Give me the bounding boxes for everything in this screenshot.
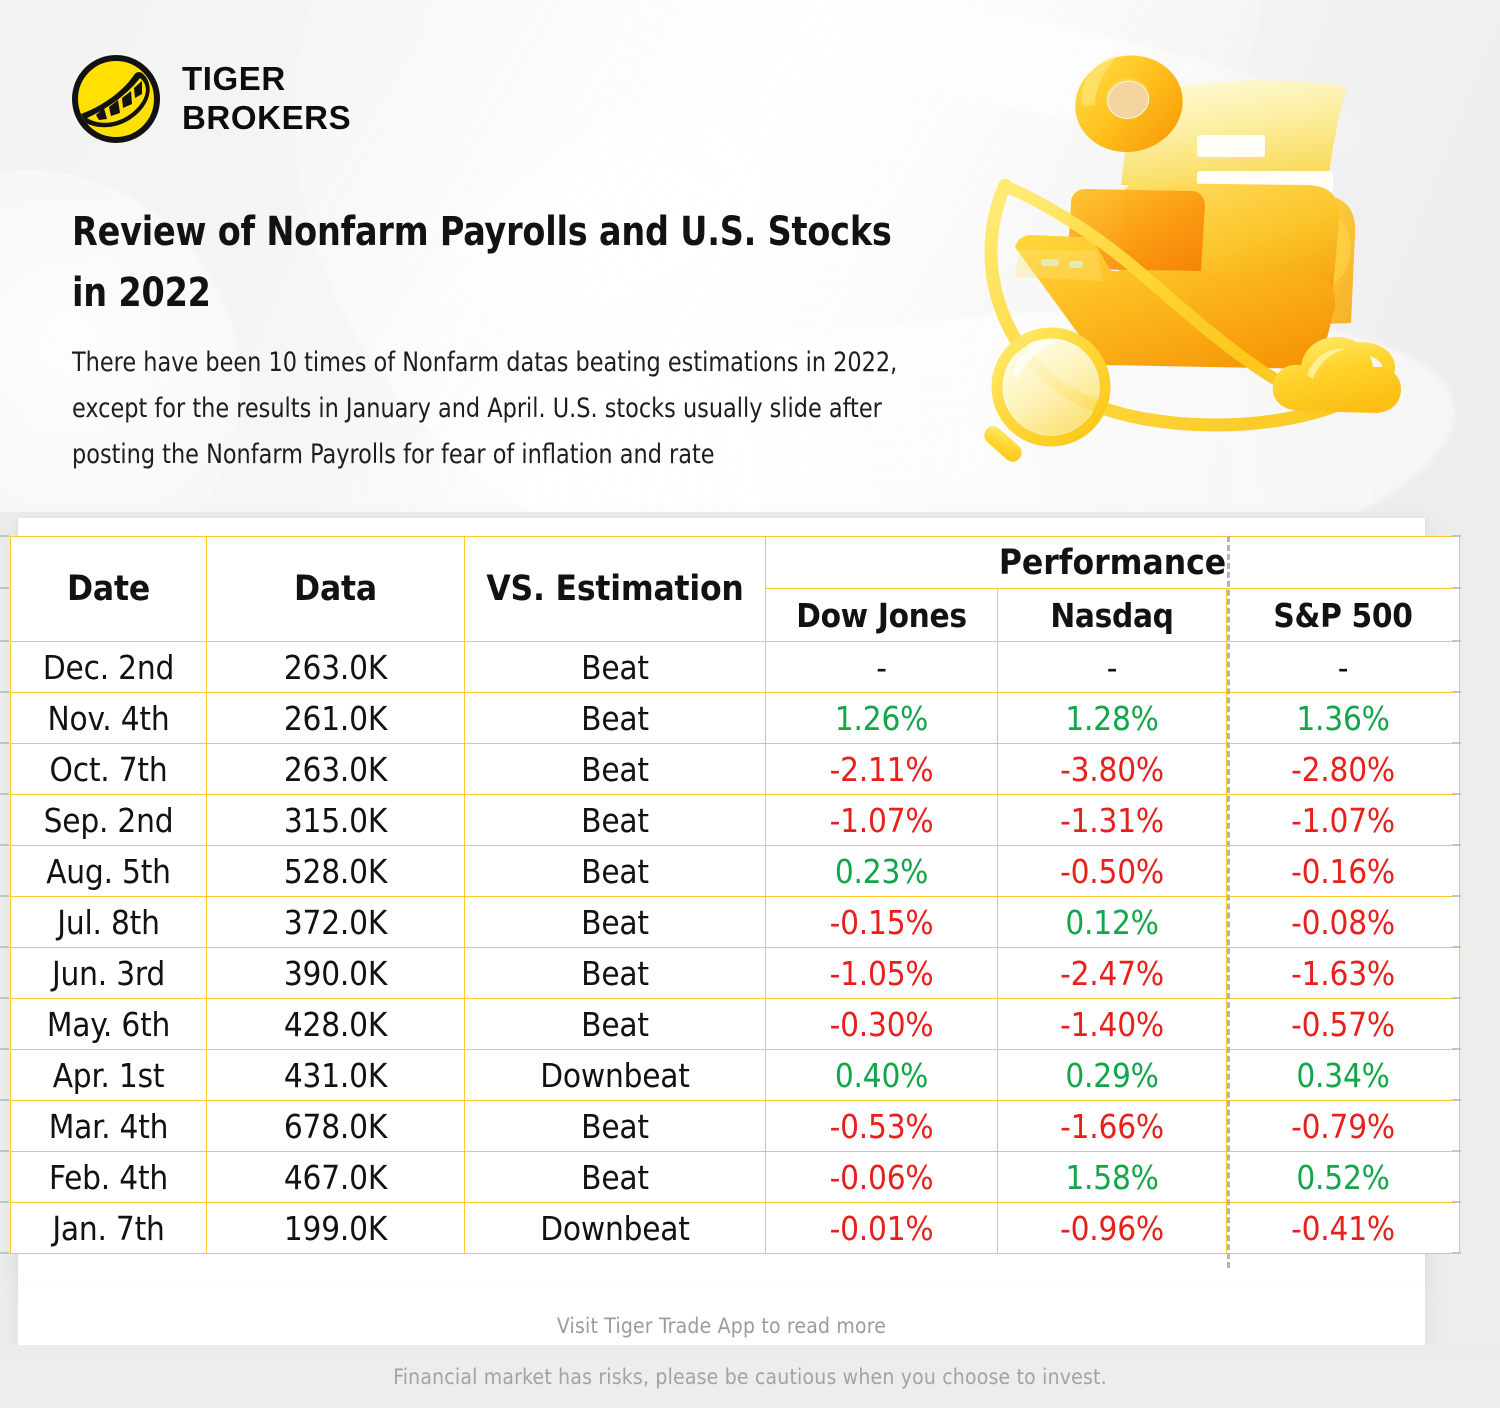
cell-sp500: -1.63% [1227, 948, 1460, 999]
cell-nasdaq: 0.29% [998, 1050, 1227, 1101]
cell-data: 261.0K [207, 693, 465, 744]
cell-data: 390.0K [207, 948, 465, 999]
cell-data: 263.0K [207, 744, 465, 795]
row-resize-handle[interactable] [0, 1099, 9, 1101]
brand-logo: TIGER BROKERS [72, 55, 351, 143]
cell-date: Jan. 7th [11, 1203, 207, 1254]
column-header-sp500[interactable]: S&P 500 [1227, 589, 1460, 642]
row-resize-handle[interactable] [0, 535, 9, 537]
cell-estimation: Beat [465, 999, 766, 1050]
table-body: Dec. 2nd263.0KBeat---Nov. 4th261.0KBeat1… [11, 642, 1460, 1254]
row-resize-handle[interactable] [1452, 691, 1461, 693]
cell-sp500: 0.34% [1227, 1050, 1460, 1101]
cell-nasdaq: -1.31% [998, 795, 1227, 846]
cell-estimation: Beat [465, 897, 766, 948]
cell-sp500: -2.80% [1227, 744, 1460, 795]
table-row[interactable]: Jan. 7th199.0KDownbeat-0.01%-0.96%-0.41% [11, 1203, 1460, 1254]
column-header-vs-estimation[interactable]: VS. Estimation [465, 537, 766, 642]
cell-data: 263.0K [207, 642, 465, 693]
cell-sp500: 1.36% [1227, 693, 1460, 744]
brand-name-line-2: BROKERS [182, 99, 351, 138]
cell-dow-jones: 0.40% [766, 1050, 998, 1101]
column-header-date[interactable]: Date [11, 537, 207, 642]
row-resize-handle[interactable] [1452, 793, 1461, 795]
cell-date: Feb. 4th [11, 1152, 207, 1203]
nonfarm-payrolls-table: Date Data VS. Estimation Performance Dow… [10, 536, 1460, 1254]
row-resize-handle[interactable] [0, 587, 9, 589]
cell-date: Jul. 8th [11, 897, 207, 948]
cell-data: 467.0K [207, 1152, 465, 1203]
cell-data: 428.0K [207, 999, 465, 1050]
table-row[interactable]: Oct. 7th263.0KBeat-2.11%-3.80%-2.80% [11, 744, 1460, 795]
cell-date: Dec. 2nd [11, 642, 207, 693]
table-header-row-primary: Date Data VS. Estimation Performance [11, 537, 1460, 589]
cell-dow-jones: - [766, 642, 998, 693]
table-row[interactable]: Aug. 5th528.0KBeat0.23%-0.50%-0.16% [11, 846, 1460, 897]
brand-name: TIGER BROKERS [182, 60, 351, 138]
cell-estimation: Downbeat [465, 1203, 766, 1254]
brand-name-line-1: TIGER [182, 60, 351, 99]
cell-data: 528.0K [207, 846, 465, 897]
table-header: Date Data VS. Estimation Performance Dow… [11, 537, 1460, 642]
row-resize-handle[interactable] [1452, 895, 1461, 897]
cell-estimation: Beat [465, 846, 766, 897]
cell-sp500: -1.07% [1227, 795, 1460, 846]
row-resize-handle[interactable] [1452, 997, 1461, 999]
row-resize-handle[interactable] [1452, 535, 1461, 537]
row-resize-handle[interactable] [1452, 946, 1461, 948]
file-folder-documents-magnifier-cloud-illustration [975, 35, 1465, 515]
cell-estimation: Beat [465, 1152, 766, 1203]
cell-dow-jones: -0.53% [766, 1101, 998, 1152]
cell-dow-jones: -0.15% [766, 897, 998, 948]
column-header-performance-group: Performance [766, 537, 1460, 589]
cell-dow-jones: 0.23% [766, 846, 998, 897]
cell-estimation: Beat [465, 744, 766, 795]
row-resize-handle[interactable] [1452, 1048, 1461, 1050]
cell-nasdaq: 1.58% [998, 1152, 1227, 1203]
cell-dow-jones: -0.06% [766, 1152, 998, 1203]
row-resize-handle[interactable] [0, 1048, 9, 1050]
row-resize-handle[interactable] [0, 997, 9, 999]
column-header-data[interactable]: Data [207, 537, 465, 642]
cell-nasdaq: -2.47% [998, 948, 1227, 999]
cell-date: Nov. 4th [11, 693, 207, 744]
column-header-dow-jones[interactable]: Dow Jones [766, 589, 998, 642]
table-row[interactable]: Dec. 2nd263.0KBeat--- [11, 642, 1460, 693]
row-resize-handle[interactable] [0, 640, 9, 642]
table-row[interactable]: Nov. 4th261.0KBeat1.26%1.28%1.36% [11, 693, 1460, 744]
table-row[interactable]: Sep. 2nd315.0KBeat-1.07%-1.31%-1.07% [11, 795, 1460, 846]
page-subtitle: There have been 10 times of Nonfarm data… [72, 340, 937, 478]
cell-dow-jones: 1.26% [766, 693, 998, 744]
cell-dow-jones: -0.30% [766, 999, 998, 1050]
row-resize-handle[interactable] [1452, 1099, 1461, 1101]
cell-nasdaq: -3.80% [998, 744, 1227, 795]
cell-sp500: -0.79% [1227, 1101, 1460, 1152]
row-resize-handle[interactable] [0, 1252, 9, 1254]
cell-date: Jun. 3rd [11, 948, 207, 999]
cell-date: Apr. 1st [11, 1050, 207, 1101]
cell-sp500: -0.57% [1227, 999, 1460, 1050]
cell-nasdaq: -1.40% [998, 999, 1227, 1050]
row-resize-handle[interactable] [0, 895, 9, 897]
cell-data: 372.0K [207, 897, 465, 948]
row-resize-handle[interactable] [1452, 640, 1461, 642]
cell-sp500: -0.41% [1227, 1203, 1460, 1254]
cell-sp500: 0.52% [1227, 1152, 1460, 1203]
cell-nasdaq: 0.12% [998, 897, 1227, 948]
cell-sp500: -0.16% [1227, 846, 1460, 897]
cell-nasdaq: -0.96% [998, 1203, 1227, 1254]
cell-estimation: Downbeat [465, 1050, 766, 1101]
cell-date: Aug. 5th [11, 846, 207, 897]
page-title: Review of Nonfarm Payrolls and U.S. Stoc… [72, 202, 914, 324]
cell-estimation: Beat [465, 948, 766, 999]
cell-date: Oct. 7th [11, 744, 207, 795]
cell-data: 678.0K [207, 1101, 465, 1152]
table-row[interactable]: May. 6th428.0KBeat-0.30%-1.40%-0.57% [11, 999, 1460, 1050]
risk-disclaimer-label: Financial market has risks, please be ca… [393, 1365, 1107, 1389]
cell-dow-jones: -0.01% [766, 1203, 998, 1254]
cell-sp500: -0.08% [1227, 897, 1460, 948]
cell-estimation: Beat [465, 795, 766, 846]
cell-dow-jones: -2.11% [766, 744, 998, 795]
cell-estimation: Beat [465, 642, 766, 693]
cell-nasdaq: - [998, 642, 1227, 693]
row-resize-handle[interactable] [1452, 844, 1461, 846]
cell-nasdaq: -0.50% [998, 846, 1227, 897]
row-resize-handle[interactable] [0, 946, 9, 948]
tiger-claw-logo-icon [72, 55, 160, 143]
row-resize-handle[interactable] [1452, 587, 1461, 589]
cell-sp500: - [1227, 642, 1460, 693]
row-resize-handle[interactable] [0, 1150, 9, 1152]
row-resize-handle[interactable] [0, 1201, 9, 1203]
table-row[interactable]: Feb. 4th467.0KBeat-0.06%1.58%0.52% [11, 1152, 1460, 1203]
table-row[interactable]: Apr. 1st431.0KDownbeat0.40%0.29%0.34% [11, 1050, 1460, 1101]
row-resize-handle[interactable] [1452, 1252, 1461, 1254]
cell-dow-jones: -1.05% [766, 948, 998, 999]
cell-dow-jones: -1.07% [766, 795, 998, 846]
cell-date: Sep. 2nd [11, 795, 207, 846]
row-resize-handle[interactable] [1452, 742, 1461, 744]
row-resize-handle[interactable] [1452, 1201, 1461, 1203]
table-row[interactable]: Mar. 4th678.0KBeat-0.53%-1.66%-0.79% [11, 1101, 1460, 1152]
cell-data: 199.0K [207, 1203, 465, 1254]
row-resize-handle[interactable] [0, 742, 9, 744]
cell-estimation: Beat [465, 1101, 766, 1152]
row-resize-handle[interactable] [0, 844, 9, 846]
cell-data: 315.0K [207, 795, 465, 846]
cell-nasdaq: 1.28% [998, 693, 1227, 744]
nonfarm-payrolls-table-wrapper: Date Data VS. Estimation Performance Dow… [10, 536, 1459, 1254]
table-row[interactable]: Jul. 8th372.0KBeat-0.15%0.12%-0.08% [11, 897, 1460, 948]
cell-nasdaq: -1.66% [998, 1101, 1227, 1152]
table-row[interactable]: Jun. 3rd390.0KBeat-1.05%-2.47%-1.63% [11, 948, 1460, 999]
cell-date: May. 6th [11, 999, 207, 1050]
cell-data: 431.0K [207, 1050, 465, 1101]
column-header-nasdaq[interactable]: Nasdaq [998, 589, 1227, 642]
row-resize-handle[interactable] [0, 793, 9, 795]
read-more-cta-label: Visit Tiger Trade App to read more [557, 1314, 886, 1338]
row-resize-handle[interactable] [0, 691, 9, 693]
cell-estimation: Beat [465, 693, 766, 744]
cell-date: Mar. 4th [11, 1101, 207, 1152]
risk-disclaimer: Financial market has risks, please be ca… [0, 1345, 1500, 1408]
row-resize-handle[interactable] [1452, 1150, 1461, 1152]
